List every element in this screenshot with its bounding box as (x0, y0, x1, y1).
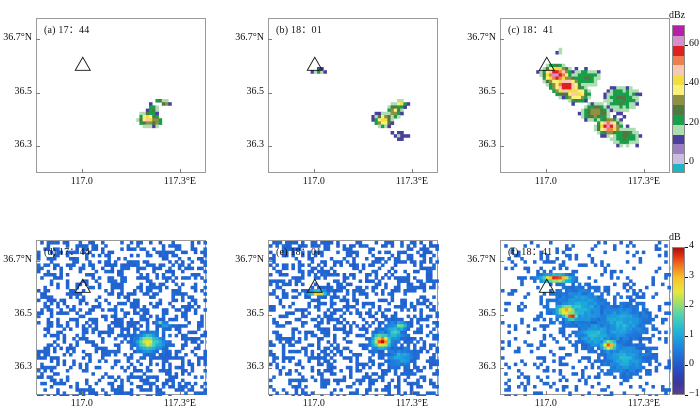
reflectivity-colorbar-tick-label: 60 (689, 38, 699, 49)
zdr-colorbar-tick-label: 1 (689, 329, 694, 340)
y-tickmark (500, 93, 504, 94)
reflectivity-colorbar-tickmark (685, 45, 688, 46)
reflectivity-colorbar-tick-label: 40 (689, 77, 699, 88)
reflectivity-colorbar-band (673, 95, 684, 105)
reflectivity-colorbar-title: dBz (669, 10, 685, 21)
plot-frame-f (500, 240, 670, 395)
zdr-colorbar-tick-label: 2 (689, 299, 694, 310)
zdr-colorbar-tickmark (685, 365, 688, 366)
x-tick-label: 117.0 (506, 398, 586, 409)
y-tickmark (500, 146, 504, 147)
y-tick-label: 36.3 (438, 139, 496, 150)
y-tick-label: 36.5 (0, 86, 32, 97)
x-tickmark (546, 391, 547, 395)
y-tickmark (500, 39, 504, 40)
zdr-colorbar-tick-label: 3 (689, 270, 694, 281)
reflectivity-colorbar-band (673, 65, 684, 75)
y-tickmark (36, 146, 40, 147)
x-tickmark (412, 169, 413, 173)
panel-label-b: (b) 18：01 (276, 21, 322, 36)
radar-field-d (37, 241, 207, 396)
x-tick-label: 117.0 (274, 176, 354, 187)
reflectivity-colorbar-tick-label: 0 (689, 156, 694, 167)
reflectivity-colorbar-band (673, 144, 684, 154)
zdr-colorbar-tickmark (685, 306, 688, 307)
x-tickmark (644, 169, 645, 173)
reflectivity-colorbar-band (673, 105, 684, 115)
zdr-colorbar-tick-label: 4 (689, 240, 694, 251)
x-tick-label: 117.0 (42, 176, 122, 187)
reflectivity-colorbar-band (673, 85, 684, 95)
zdr-colorbar-tickmark (685, 247, 688, 248)
zdr-colorbar-tickmark (685, 395, 688, 396)
plot-frame-c (500, 18, 670, 173)
reflectivity-colorbar-band (673, 36, 684, 46)
x-tickmark (314, 169, 315, 173)
plot-frame-b (268, 18, 438, 173)
y-tick-label: 36.5 (206, 308, 264, 319)
y-tick-label: 36.7°N (206, 32, 264, 43)
x-tick-label: 117.3°E (140, 176, 220, 187)
zdr-colorbar-bar (672, 247, 685, 395)
zdr-colorbar-tick-label: −1 (689, 388, 700, 399)
reflectivity-colorbar-band (673, 154, 684, 164)
plot-frame-a (36, 18, 206, 173)
reflectivity-colorbar-tickmark (685, 84, 688, 85)
x-tick-label: 117.0 (274, 398, 354, 409)
radar-field-b (269, 19, 439, 174)
x-tickmark (180, 391, 181, 395)
x-tickmark (546, 169, 547, 173)
y-tickmark (36, 93, 40, 94)
y-tick-label: 36.5 (206, 86, 264, 97)
x-tickmark (82, 169, 83, 173)
reflectivity-colorbar-band (673, 164, 684, 173)
reflectivity-colorbar-bar (672, 25, 685, 173)
y-tick-label: 36.5 (438, 86, 496, 97)
y-tickmark (268, 261, 272, 262)
y-tick-label: 36.3 (438, 361, 496, 372)
x-tick-label: 117.0 (42, 398, 122, 409)
y-tick-label: 36.7°N (0, 32, 32, 43)
y-tickmark (36, 315, 40, 316)
x-tickmark (314, 391, 315, 395)
reflectivity-colorbar-band (673, 46, 684, 56)
y-tickmark (268, 146, 272, 147)
y-tickmark (500, 368, 504, 369)
radar-field-c (501, 19, 671, 174)
reflectivity-colorbar-band (673, 26, 684, 36)
y-tickmark (500, 261, 504, 262)
reflectivity-colorbar-band (673, 125, 684, 135)
y-tick-label: 36.7°N (438, 254, 496, 265)
figure-root: (a) 17：4436.7°N36.536.3117.0117.3°E(b) 1… (0, 0, 700, 413)
zdr-colorbar-tick-label: 0 (689, 358, 694, 369)
y-tick-label: 36.7°N (206, 254, 264, 265)
x-tickmark (180, 169, 181, 173)
y-tickmark (36, 39, 40, 40)
y-tickmark (36, 261, 40, 262)
zdr-colorbar-title: dB (669, 232, 681, 243)
panel-label-e: (e) 18：01 (276, 243, 321, 258)
panel-label-a: (a) 17：44 (44, 21, 89, 36)
x-tick-label: 117.3°E (604, 398, 684, 409)
zdr-colorbar-tickmark (685, 277, 688, 278)
y-tick-label: 36.7°N (438, 32, 496, 43)
radar-field-e (269, 241, 439, 396)
y-tickmark (268, 93, 272, 94)
y-tick-label: 36.5 (438, 308, 496, 319)
y-tick-label: 36.3 (206, 139, 264, 150)
y-tickmark (268, 315, 272, 316)
x-tick-label: 117.0 (506, 176, 586, 187)
x-tickmark (644, 391, 645, 395)
reflectivity-colorbar-tick-label: 20 (689, 117, 699, 128)
panel-label-c: (c) 18：41 (508, 21, 553, 36)
reflectivity-colorbar-band (673, 75, 684, 85)
radar-field-a (37, 19, 207, 174)
plot-frame-e (268, 240, 438, 395)
x-tickmark (412, 391, 413, 395)
plot-frame-d (36, 240, 206, 395)
y-tick-label: 36.5 (0, 308, 32, 319)
y-tick-label: 36.3 (0, 139, 32, 150)
x-tick-label: 117.3°E (140, 398, 220, 409)
y-tickmark (36, 368, 40, 369)
x-tick-label: 117.3°E (372, 176, 452, 187)
reflectivity-colorbar-band (673, 115, 684, 125)
reflectivity-colorbar-band (673, 56, 684, 66)
y-tickmark (500, 315, 504, 316)
x-tick-label: 117.3°E (604, 176, 684, 187)
x-tick-label: 117.3°E (372, 398, 452, 409)
y-tick-label: 36.3 (206, 361, 264, 372)
y-tickmark (268, 39, 272, 40)
panel-label-f: (f) 18：41 (508, 243, 552, 258)
y-tick-label: 36.3 (0, 361, 32, 372)
y-tick-label: 36.7°N (0, 254, 32, 265)
reflectivity-colorbar-tickmark (685, 124, 688, 125)
panel-label-d: (d) 17：44 (44, 243, 90, 258)
x-tickmark (82, 391, 83, 395)
reflectivity-colorbar-band (673, 135, 684, 145)
y-tickmark (268, 368, 272, 369)
reflectivity-colorbar-tickmark (685, 163, 688, 164)
zdr-colorbar-tickmark (685, 336, 688, 337)
radar-field-f (501, 241, 671, 396)
